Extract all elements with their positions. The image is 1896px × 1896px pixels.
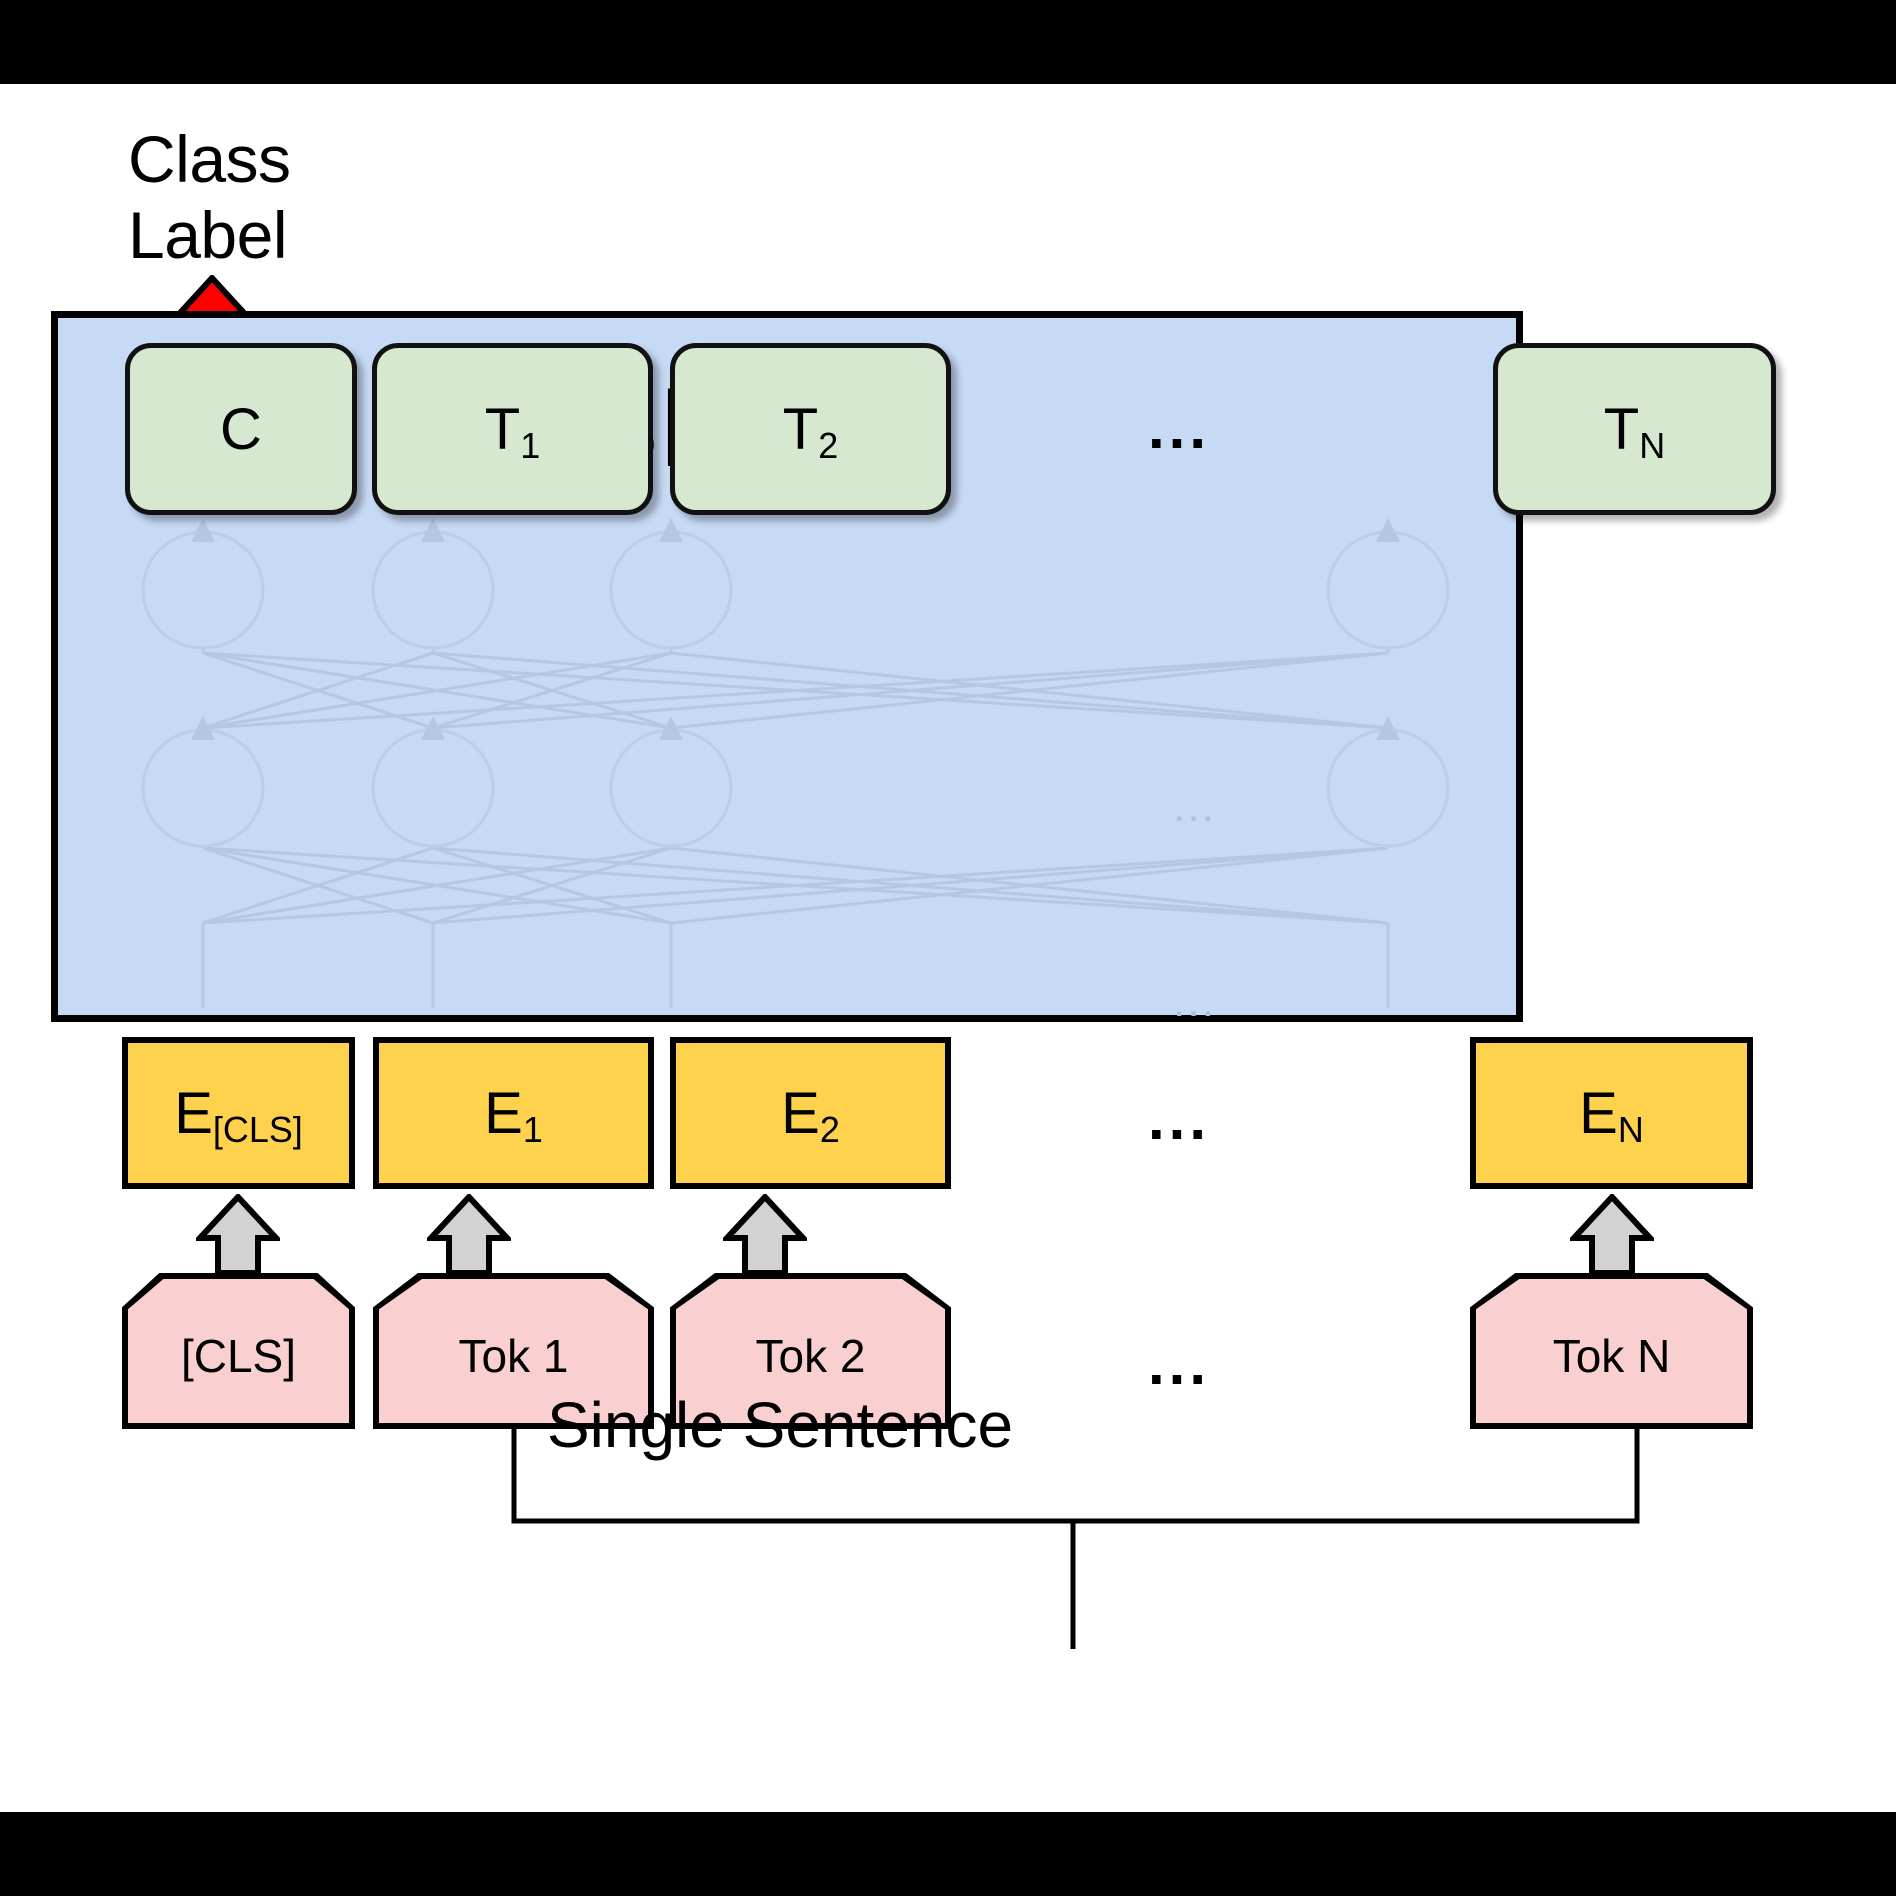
input-row-ellipsis: ... <box>1148 1334 1210 1394</box>
input-arrow-icon-tokn <box>1570 1194 1654 1276</box>
input-caption: Single Sentence <box>0 1388 1896 1462</box>
embedding-label-e1: E1 <box>484 1080 543 1147</box>
embedding-row-ellipsis: ... <box>1148 1089 1210 1149</box>
class-label-text: Class Label <box>128 122 291 274</box>
output-token-label-t1: T1 <box>485 396 540 463</box>
embedding-label-e2: E2 <box>781 1080 840 1147</box>
output-token-box-t1[interactable]: T1 <box>372 343 653 515</box>
output-token-box-tn[interactable]: TN <box>1493 343 1776 515</box>
diagram-canvas: Class Label <box>0 0 1896 1896</box>
embedding-box-e2[interactable]: E2 <box>670 1037 951 1189</box>
input-arrow-icon-tok1 <box>427 1194 511 1276</box>
input-arrow-icon-tok2 <box>723 1194 807 1276</box>
output-token-label-tn: TN <box>1604 396 1665 463</box>
network-ellipsis-upper: ... <box>1175 797 1218 827</box>
embedding-box-e1[interactable]: E1 <box>373 1037 654 1189</box>
output-token-label-c: C <box>220 396 262 463</box>
white-background: Class Label <box>0 84 1896 1812</box>
input-arrow-icon-cls <box>196 1194 280 1276</box>
embedding-label-cls: E[CLS] <box>174 1080 303 1147</box>
output-row-ellipsis: ... <box>1148 398 1210 458</box>
network-ellipsis-lower: ... <box>1175 992 1218 1022</box>
output-token-box-c[interactable]: C <box>125 343 357 515</box>
output-token-box-t2[interactable]: T2 <box>670 343 951 515</box>
embedding-box-en[interactable]: EN <box>1470 1037 1753 1189</box>
embedding-label-en: EN <box>1579 1080 1644 1147</box>
output-token-label-t2: T2 <box>783 396 838 463</box>
input-caption-text: Single Sentence <box>547 1389 1013 1461</box>
embedding-box-cls[interactable]: E[CLS] <box>122 1037 355 1189</box>
